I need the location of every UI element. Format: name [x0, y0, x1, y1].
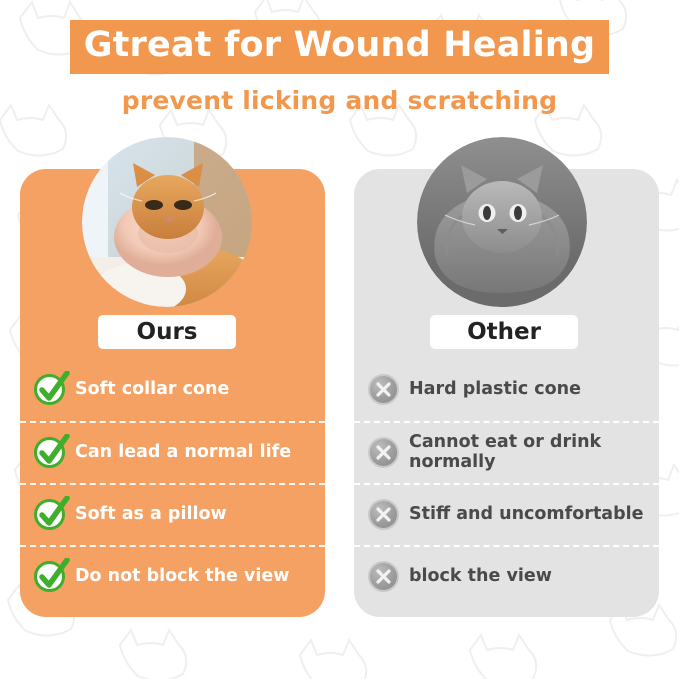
list-item: Hard plastic cone [354, 359, 659, 421]
page-title: Gtreat for Wound Healing [70, 20, 610, 74]
list-item: Cannot eat or drink normally [354, 421, 659, 483]
list-item-label: Soft as a pillow [75, 505, 227, 525]
other-product-photo [417, 137, 587, 307]
check-circle-icon [34, 561, 65, 592]
list-item: Stiff and uncomfortable [354, 483, 659, 545]
x-circle-icon [368, 437, 399, 468]
list-item-label: block the view [409, 567, 552, 587]
other-label: Other [467, 319, 541, 345]
x-circle-icon [368, 499, 399, 530]
list-item-label: Cannot eat or drink normally [409, 433, 649, 472]
promo-infographic: Gtreat for Wound Healing prevent licking… [0, 0, 679, 679]
list-item-label: Soft collar cone [75, 380, 229, 400]
check-circle-icon [34, 374, 65, 405]
other-feature-list: Hard plastic cone Cannot eat or drink no… [354, 359, 659, 607]
list-item: Can lead a normal life [20, 421, 325, 483]
ours-feature-list: Soft collar cone Can lead a normal life … [20, 359, 325, 607]
ours-label: Ours [137, 319, 198, 345]
cat-soft-collar-photo-icon [82, 137, 252, 307]
list-item: Soft as a pillow [20, 483, 325, 545]
x-circle-icon [368, 374, 399, 405]
ours-product-photo [82, 137, 252, 307]
cat-hard-cone-photo-icon [417, 137, 587, 307]
list-item: Soft collar cone [20, 359, 325, 421]
list-item-label: Stiff and uncomfortable [409, 505, 644, 525]
list-item: Do not block the view [20, 545, 325, 607]
ours-label-chip: Ours [98, 315, 236, 349]
other-label-chip: Other [430, 315, 578, 349]
x-circle-icon [368, 561, 399, 592]
list-item-label: Hard plastic cone [409, 380, 581, 400]
page-subtitle: prevent licking and scratching [122, 86, 557, 115]
list-item: block the view [354, 545, 659, 607]
check-circle-icon [34, 499, 65, 530]
check-circle-icon [34, 437, 65, 468]
comparison-section: Ours Soft collar cone Can lead a normal … [20, 137, 659, 617]
list-item-label: Can lead a normal life [75, 443, 291, 463]
list-item-label: Do not block the view [75, 567, 289, 587]
headline-banner: Gtreat for Wound Healing [20, 20, 659, 74]
